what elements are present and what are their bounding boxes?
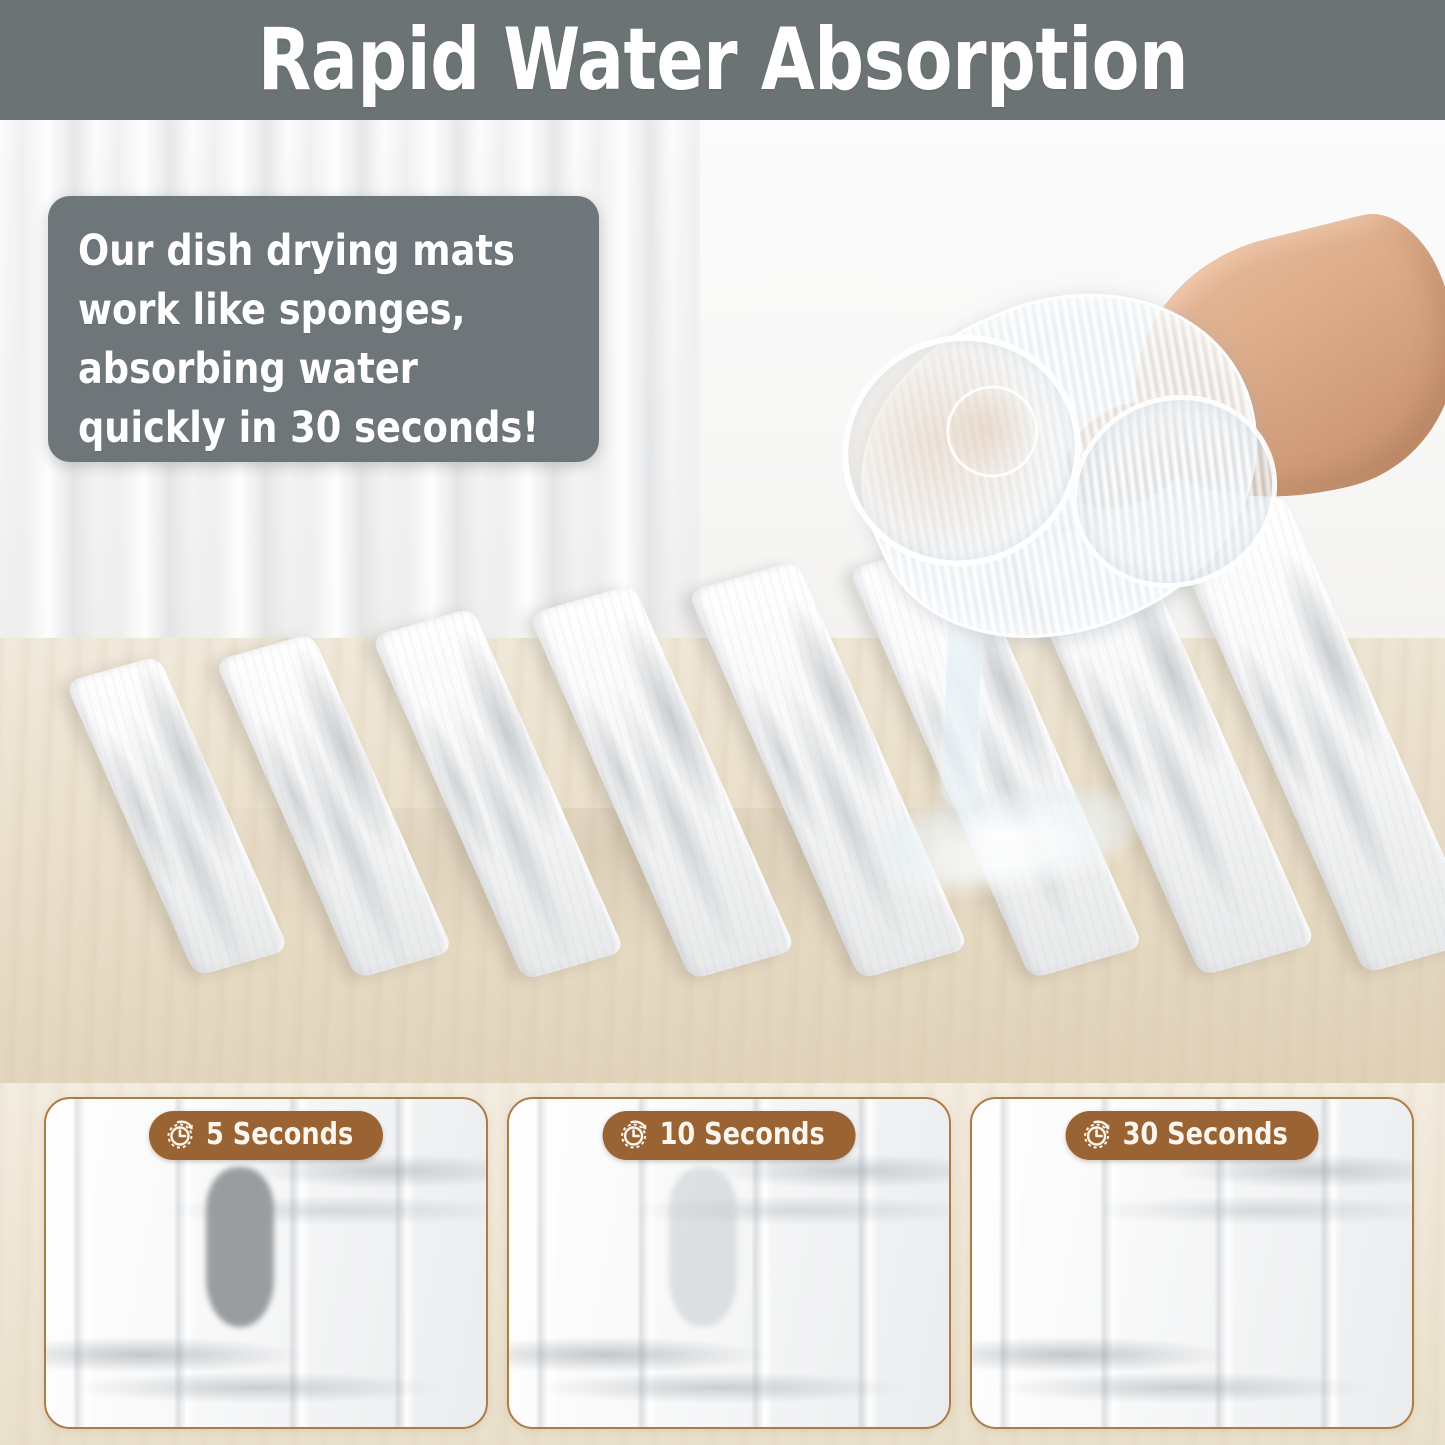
callout-text: Our dish drying mats work like sponges, … <box>78 222 544 458</box>
clock-arrow-icon <box>165 1119 197 1151</box>
comparison-panel: 5 Seconds <box>44 1097 488 1429</box>
dish-drying-mat <box>10 518 1430 1038</box>
time-badge: 30 Seconds <box>1066 1111 1319 1160</box>
product-infographic: Rapid Water Absorption <box>0 0 1445 1445</box>
wet-spot <box>206 1167 274 1327</box>
clock-arrow-icon <box>1082 1119 1114 1151</box>
time-badge-label: 30 Seconds <box>1123 1118 1288 1152</box>
comparison-panel: 30 Seconds <box>970 1097 1414 1429</box>
comparison-panel: 10 Seconds <box>507 1097 951 1429</box>
wet-spot <box>669 1167 737 1327</box>
time-badge: 10 Seconds <box>603 1111 856 1160</box>
time-badge: 5 Seconds <box>149 1111 383 1160</box>
glass-emblem-icon <box>932 371 1053 492</box>
callout-box: Our dish drying mats work like sponges, … <box>48 196 599 462</box>
time-badge-label: 10 Seconds <box>660 1118 825 1152</box>
clock-arrow-icon <box>619 1119 651 1151</box>
comparison-panel-row: 5 Seconds 10 Seconds <box>44 1097 1414 1429</box>
page-title: Rapid Water Absorption <box>257 12 1187 108</box>
comparison-strip: 5 Seconds 10 Seconds <box>0 1083 1445 1445</box>
header-banner: Rapid Water Absorption <box>0 0 1445 120</box>
time-badge-label: 5 Seconds <box>206 1118 353 1152</box>
